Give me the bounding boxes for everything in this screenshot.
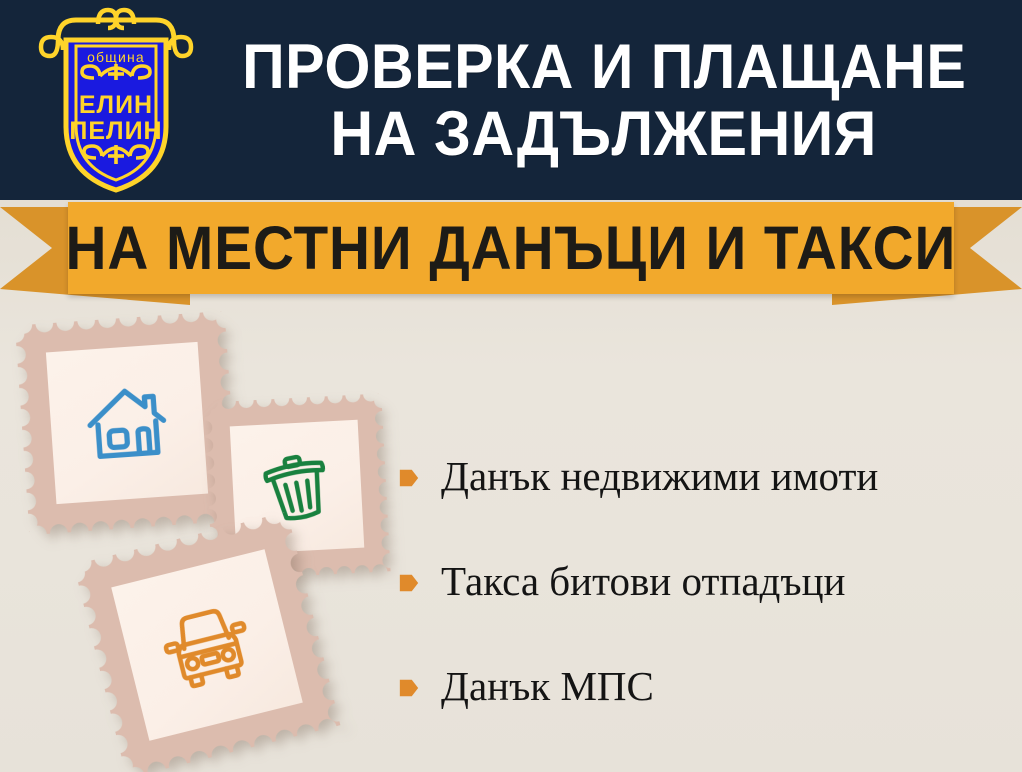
svg-text:община: община (87, 49, 145, 65)
subtitle-ribbon: НА МЕСТНИ ДАНЪЦИ И ТАКСИ (0, 199, 1022, 309)
coat-of-arms-icon: община ЕЛИН ПЕЛИН (36, 6, 196, 196)
tax-type-list: Данък недвижими имоти Такса битови отпад… (398, 424, 1010, 739)
arrow-bullet-icon (398, 572, 420, 594)
title-line-1: ПРОВЕРКА И ПЛАЩАНЕ (242, 34, 966, 101)
list-item[interactable]: Такса битови отпадъци (398, 529, 1010, 634)
list-item-label: Данък МПС (441, 666, 654, 707)
page-title: ПРОВЕРКА И ПЛАЩАНЕ НА ЗАДЪЛЖЕНИЯ (196, 18, 1012, 184)
arrow-bullet-icon (398, 677, 420, 699)
ribbon-label: НА МЕСТНИ ДАНЪЦИ И ТАКСИ (66, 218, 957, 279)
poster-canvas: община ЕЛИН ПЕЛИН (0, 0, 1022, 772)
stamp-paper (46, 342, 207, 503)
title-line-2: НА ЗАДЪЛЖЕНИЯ (331, 101, 877, 168)
municipality-logo: община ЕЛИН ПЕЛИН (36, 6, 196, 196)
ribbon-band: НА МЕСТНИ ДАНЪЦИ И ТАКСИ (68, 202, 954, 294)
list-item[interactable]: Данък МПС (398, 634, 1010, 739)
trash-bin-icon (258, 448, 336, 526)
list-item-label: Такса битови отпадъци (441, 561, 845, 602)
header-bar: община ЕЛИН ПЕЛИН (0, 0, 1022, 200)
car-icon (151, 589, 262, 700)
house-icon (80, 376, 174, 470)
arrow-bullet-icon (398, 467, 420, 489)
svg-text:ПЕЛИН: ПЕЛИН (69, 117, 162, 145)
list-item[interactable]: Данък недвижими имоти (398, 424, 1010, 529)
list-item-label: Данък недвижими имоти (441, 456, 878, 497)
svg-text:ЕЛИН: ЕЛИН (79, 91, 153, 119)
